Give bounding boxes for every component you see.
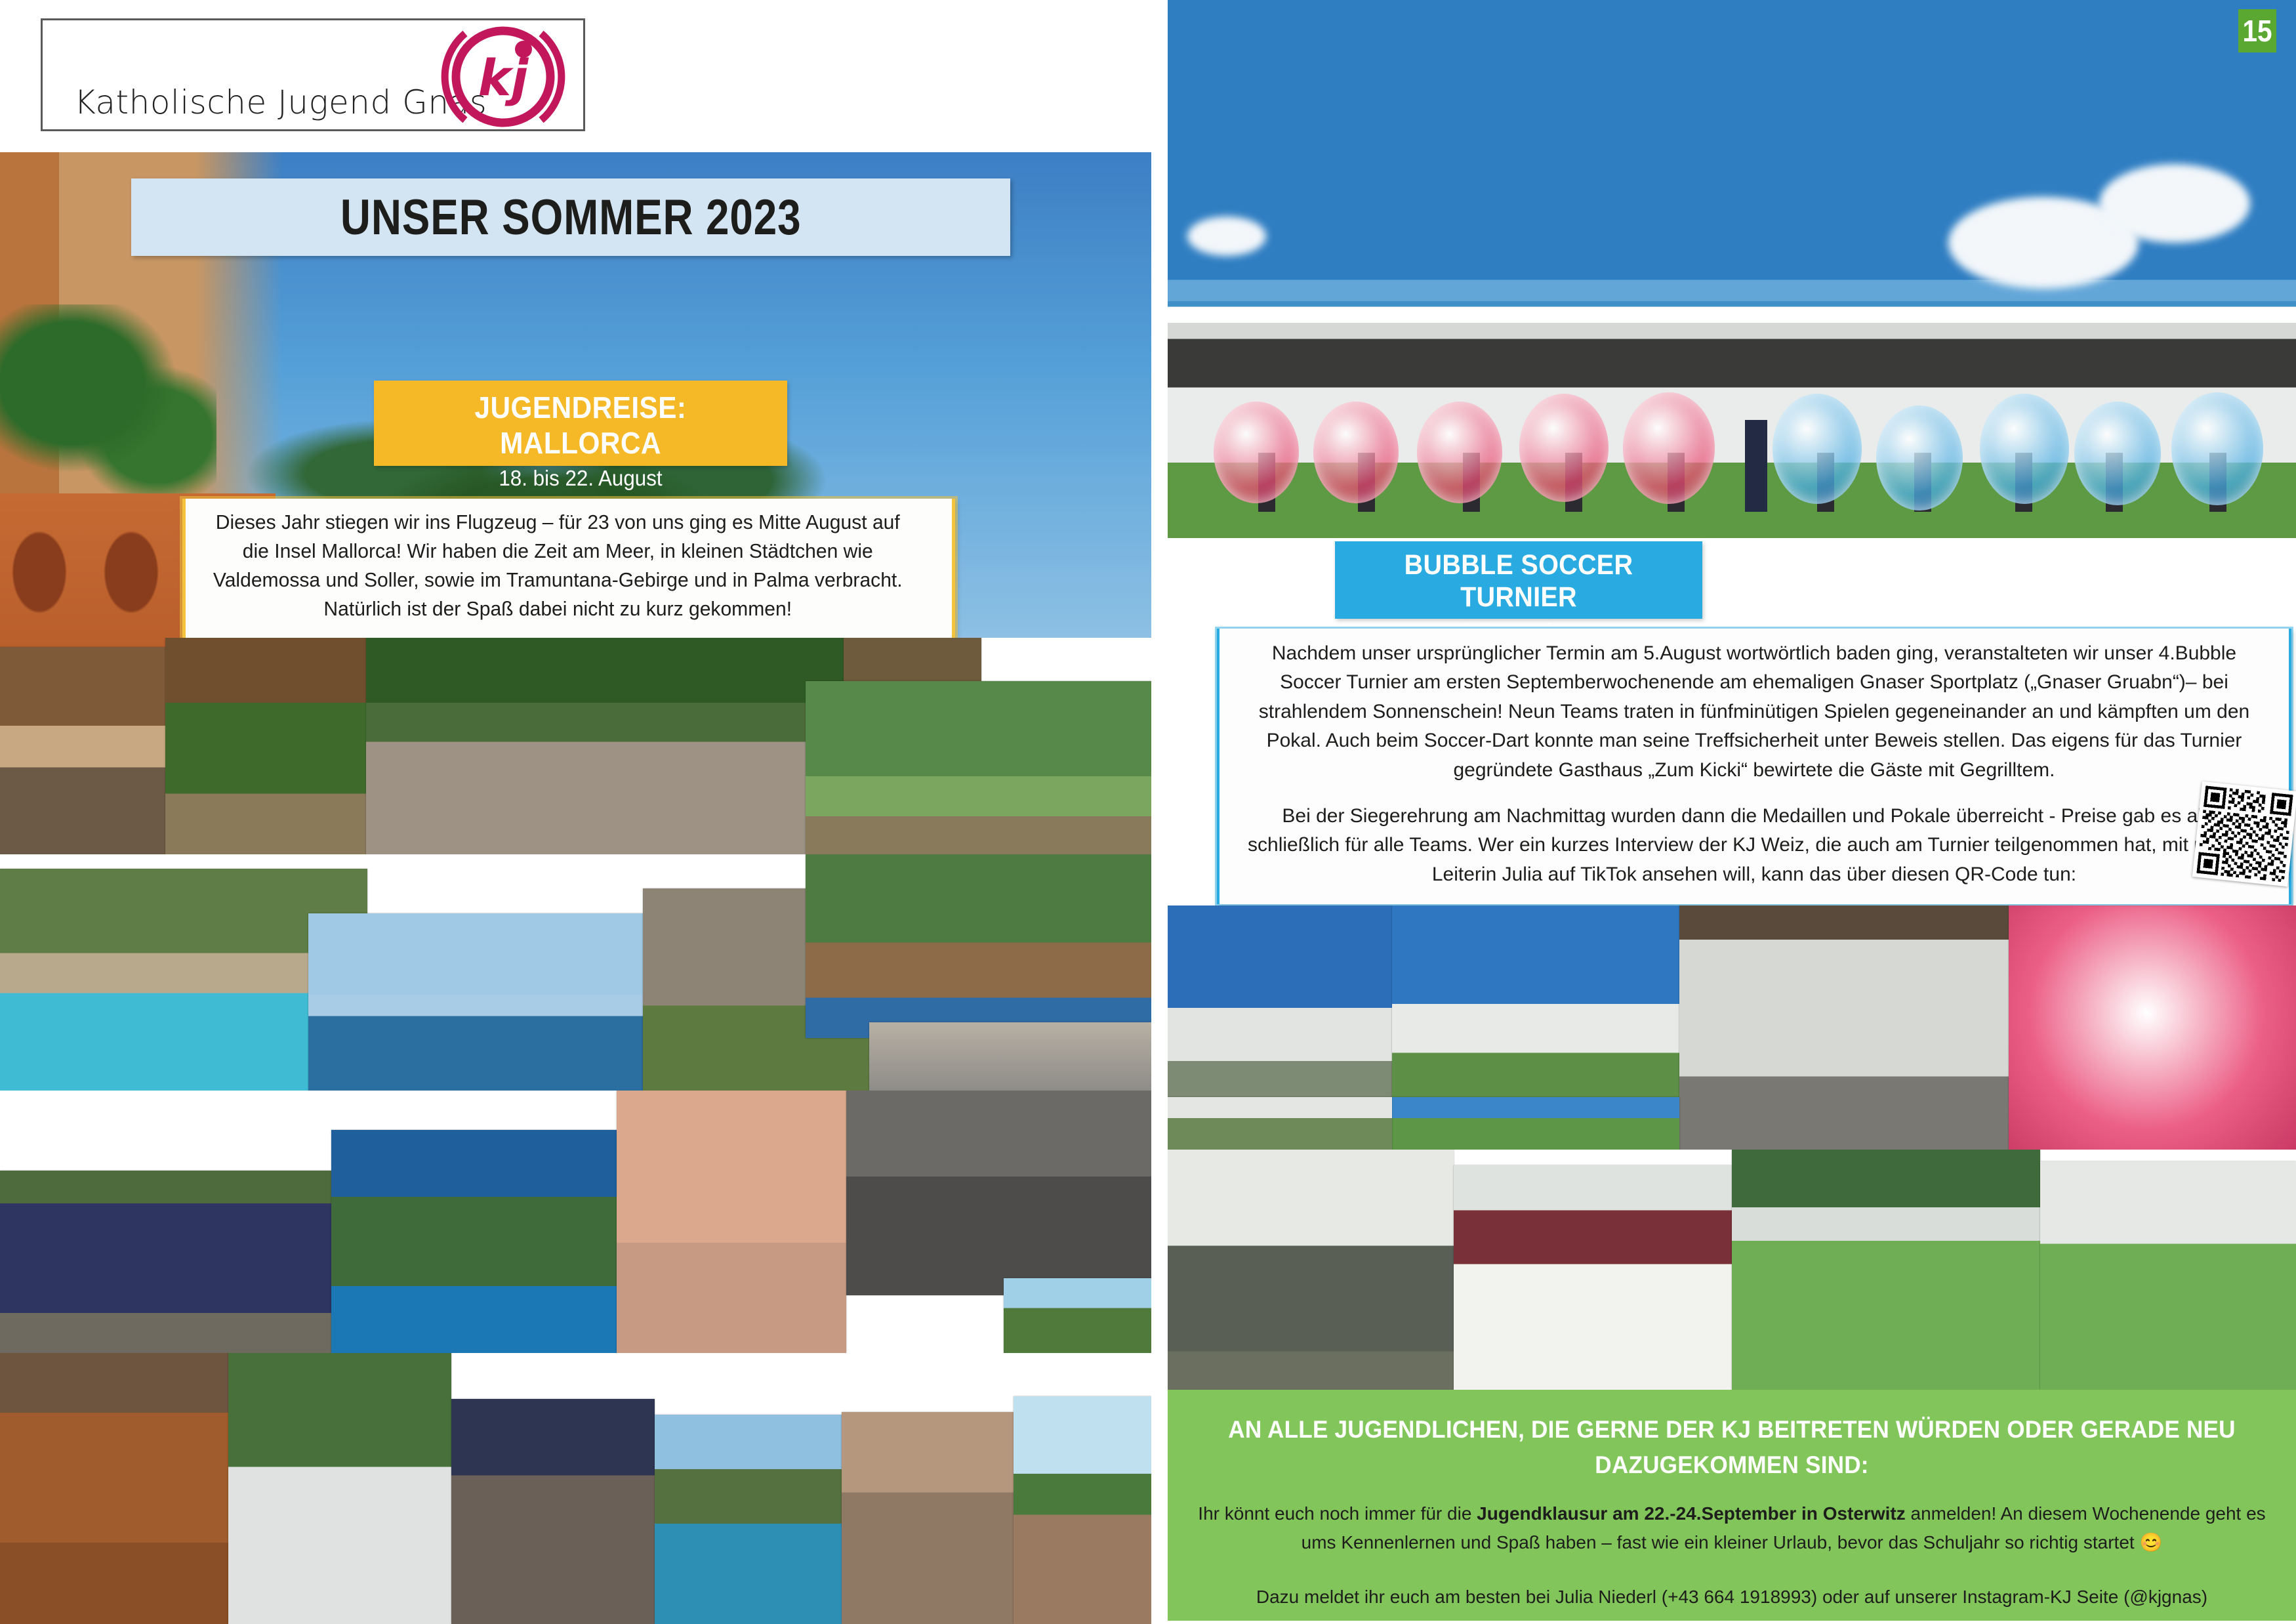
photo-jeep-convoy <box>806 854 1151 1038</box>
photo-street-walkway <box>617 1091 846 1353</box>
tournament-paragraph-2: Bei der Siegerehrung am Nachmittag wurde… <box>1242 802 2266 889</box>
callout-body-bold: Jugendklausur am 22.-24.September in Ost… <box>1477 1503 1906 1524</box>
bubble-ball-pink <box>1214 402 1299 503</box>
logo-box: Katholische Jugend Gnas kj <box>41 18 585 131</box>
collage-row-2 <box>0 854 1151 1091</box>
trip-label: JUGENDREISE: MALLORCA 18. bis 22. August <box>374 381 787 466</box>
photo-bar-group <box>0 647 165 854</box>
callout-body-2: Dazu meldet ihr euch am besten bei Julia… <box>1198 1583 2266 1611</box>
photo-palm-terrace <box>1004 1278 1151 1353</box>
bubble-ball-blue <box>2074 402 2161 505</box>
photo-ice-cream-girls <box>842 1412 1014 1624</box>
photo-corridor-pillars <box>869 1022 1151 1091</box>
trip-text-card: Dieses Jahr stiegen wir ins Flugzeug – f… <box>182 499 955 638</box>
right-column: 15 BUBBLE SOCCER TURNIER 2.September Nac… <box>1168 0 2296 1624</box>
trip-body: Dieses Jahr stiegen wir ins Flugzeug – f… <box>203 508 913 623</box>
photo-canyoning-group <box>0 1171 331 1353</box>
photo-cove-swim <box>655 1415 842 1624</box>
org-name: Katholische Jugend Gnas <box>74 83 487 121</box>
cloud-decor <box>2099 164 2250 243</box>
bubble-ball-blue <box>2171 392 2263 505</box>
hero-tree-decor <box>0 304 216 501</box>
cloud-decor <box>1187 217 1266 256</box>
photo-trophy-winner-lower <box>1168 1097 1392 1150</box>
callout-heading-line-2: DAZUGEKOMMEN SIND: <box>1225 1447 2240 1483</box>
photo-medal-winners <box>1392 906 1679 1110</box>
bubble-ball-blue <box>1773 394 1862 504</box>
collage-tournament-row-1 <box>1168 906 2296 1150</box>
photo-paella <box>0 1353 228 1624</box>
collage-tournament-row-2 <box>1168 1150 2296 1390</box>
qr-code-icon[interactable] <box>2192 781 2296 886</box>
kj-logo-icon: kj <box>438 24 569 129</box>
photo-trophy-winner <box>1168 906 1392 1110</box>
magazine-page: Katholische Jugend Gnas kj UNSER SOMMER … <box>0 0 2296 1624</box>
photo-bubble-flying <box>1732 1150 2040 1390</box>
photo-hilltop <box>165 638 366 854</box>
photo-sea-cliff <box>308 913 643 1091</box>
bubble-ball-pink <box>1417 402 1502 503</box>
bubble-soccer-hero-photo: 15 <box>1168 0 2296 538</box>
photo-drinks-couple <box>1014 1396 1151 1624</box>
logo-bar: Katholische Jugend Gnas kj <box>0 0 1151 152</box>
trip-heading: JUGENDREISE: MALLORCA <box>390 390 771 461</box>
photo-crowd-airport <box>846 1091 1151 1295</box>
photo-field-marking <box>2040 1161 2296 1390</box>
tournament-text-card: Nachdem unser ursprünglicher Termin am 5… <box>1217 629 2291 904</box>
page-number-badge: 15 <box>2238 9 2276 52</box>
collage-row-4 <box>0 1353 1151 1624</box>
collage-row-3 <box>0 1091 1151 1353</box>
photo-celebration-back <box>1392 1097 1679 1150</box>
membership-callout: AN ALLE JUGENDLICHEN, DIE GERNE DER KJ B… <box>1168 1390 2296 1621</box>
bubble-ball-pink <box>1519 394 1609 502</box>
tournament-label: BUBBLE SOCCER TURNIER 2.September <box>1335 541 1702 619</box>
photo-team-cryovac-banner <box>1454 1165 1732 1390</box>
photo-jeep-trees <box>806 681 1151 854</box>
bubble-ball-blue <box>1876 406 1963 510</box>
callout-body-1: Ihr könnt euch noch immer für die Jugend… <box>1198 1499 2266 1556</box>
trip-dates: 18. bis 22. August <box>384 466 777 491</box>
bubble-ball-pink <box>1313 402 1399 503</box>
photo-group-road <box>366 638 844 854</box>
photo-cathedral-rose-window <box>451 1399 655 1624</box>
tournament-paragraph-1: Nachdem unser ursprünglicher Termin am 5… <box>1242 639 2266 785</box>
bubble-ball-blue <box>1980 394 2069 504</box>
callout-body-pre: Ihr könnt euch noch immer für die <box>1198 1503 1477 1524</box>
page-title: UNSER SOMMER 2023 <box>131 178 1010 256</box>
photo-pink-bubble-girl <box>2009 906 2296 1150</box>
tournament-heading: BUBBLE SOCCER TURNIER <box>1349 549 1687 614</box>
photo-aerial-coast <box>331 1130 617 1353</box>
left-column: Katholische Jugend Gnas kj UNSER SOMMER … <box>0 0 1151 1624</box>
callout-heading-line-1: AN ALLE JUGENDLICHEN, DIE GERNE DER KJ B… <box>1225 1412 2240 1447</box>
collage-row-1 <box>0 638 1151 854</box>
photo-jeep-white <box>228 1353 451 1624</box>
referee-silhouette <box>1745 420 1767 512</box>
photo-team-group <box>1168 1150 1454 1390</box>
page-title-text: UNSER SOMMER 2023 <box>340 189 802 246</box>
photo-grill-gasthaus <box>1679 906 2009 1150</box>
bubble-ball-pink <box>1623 392 1715 504</box>
